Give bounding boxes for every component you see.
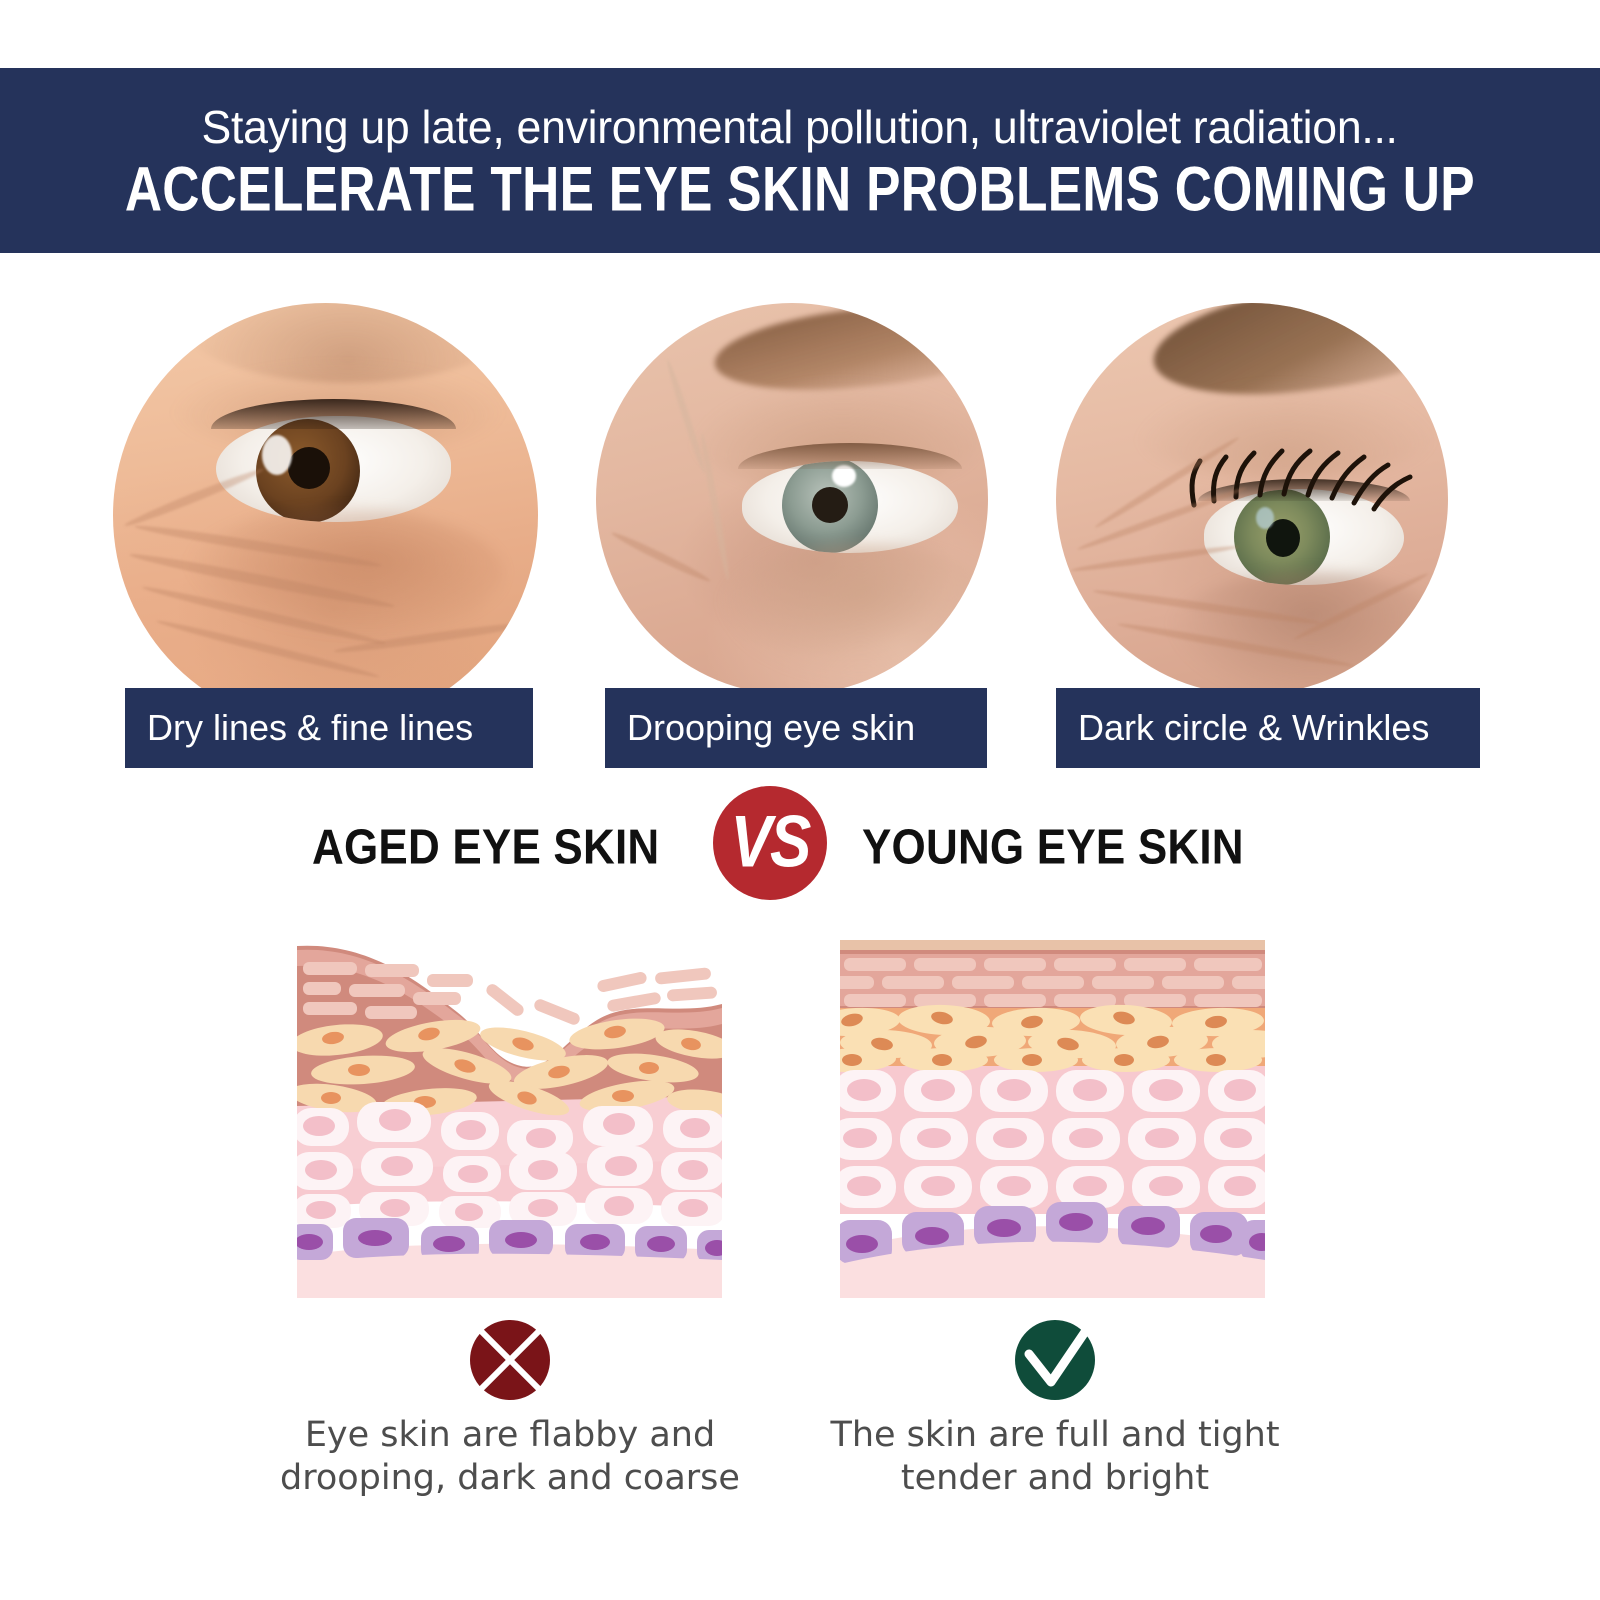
cross-mark (470, 1320, 550, 1400)
result-aged: Eye skin are flabby and drooping, dark a… (280, 1320, 740, 1499)
banner-headline: ACCELERATE THE EYE SKIN PROBLEMS COMING … (125, 157, 1475, 224)
result-caption-young: The skin are full and tight tender and b… (825, 1414, 1285, 1499)
eye-card-label-2: Drooping eye skin (605, 688, 987, 768)
aged-skin-cross-section-diagram (297, 920, 722, 1298)
result-young: The skin are full and tight tender and b… (825, 1320, 1285, 1499)
dark-circle-wrinkles-photo (1056, 303, 1448, 695)
cross-circle-icon (470, 1320, 550, 1400)
vs-badge-label: VS (731, 806, 810, 879)
result-caption-young-line2: tender and bright (825, 1457, 1285, 1500)
check-mark (1015, 1320, 1095, 1400)
result-caption-young-line1: The skin are full and tight (825, 1414, 1285, 1457)
result-caption-aged: Eye skin are flabby and drooping, dark a… (280, 1414, 740, 1499)
result-caption-aged-line1: Eye skin are flabby and (280, 1414, 740, 1457)
infographic-page: Staying up late, environmental pollution… (0, 0, 1600, 1600)
banner-subtitle: Staying up late, environmental pollution… (202, 103, 1398, 151)
eye-card-label-3: Dark circle & Wrinkles (1056, 688, 1480, 768)
vs-badge: VS (713, 786, 827, 900)
header-banner: Staying up late, environmental pollution… (0, 68, 1600, 253)
aged-eye-dry-lines-photo (113, 303, 538, 728)
aged-eye-skin-title: AGED EYE SKIN (312, 794, 659, 900)
eye-card-label-1: Dry lines & fine lines (125, 688, 533, 768)
check-circle-icon (1015, 1320, 1095, 1400)
young-skin-cross-section-diagram (840, 920, 1265, 1298)
young-eye-skin-title: YOUNG EYE SKIN (862, 794, 1244, 900)
result-caption-aged-line2: drooping, dark and coarse (280, 1457, 740, 1500)
drooping-eye-skin-photo (596, 303, 988, 695)
